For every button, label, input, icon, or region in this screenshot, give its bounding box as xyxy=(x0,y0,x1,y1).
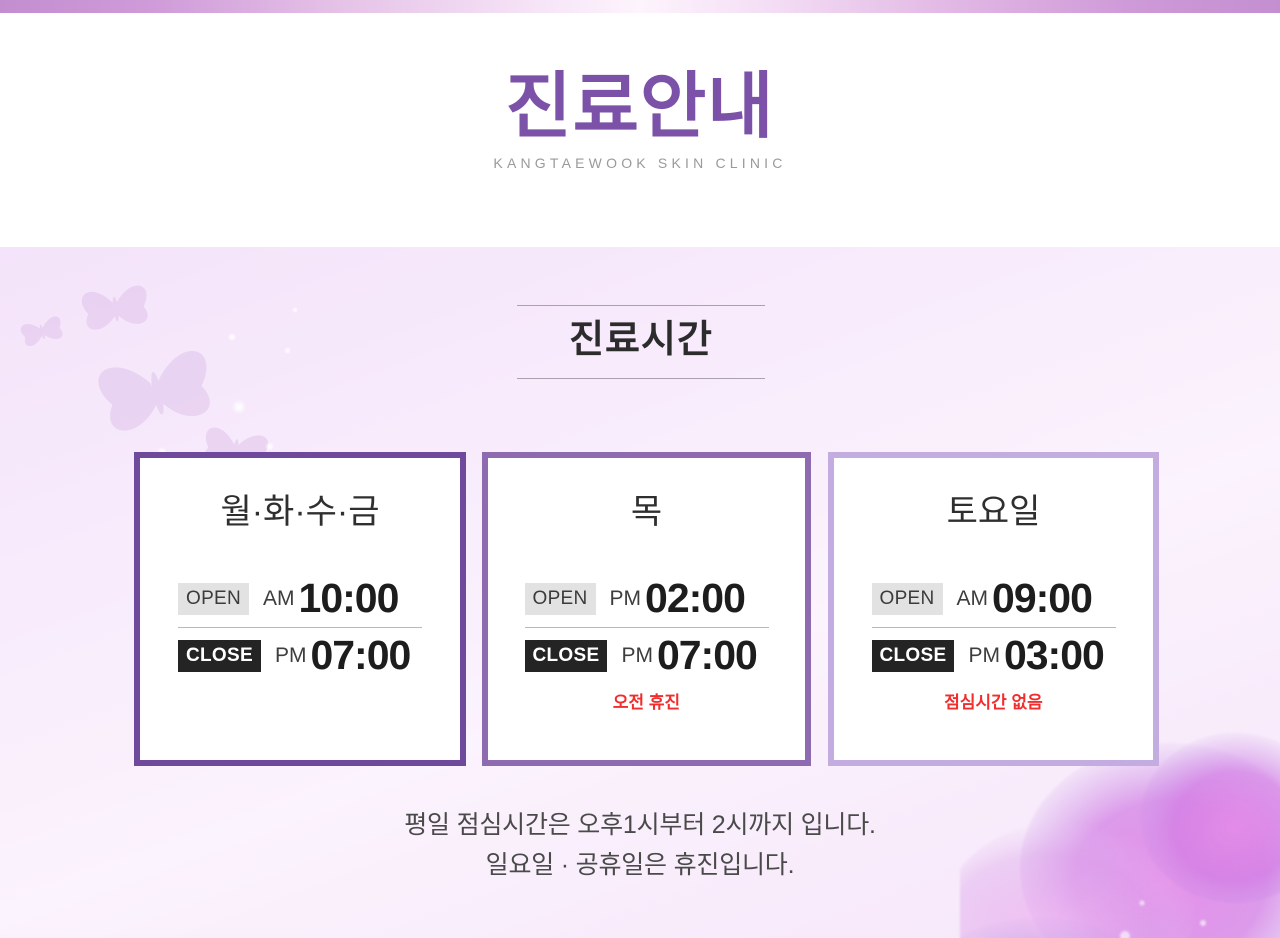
close-meridiem: PM xyxy=(621,644,653,668)
sparkle-icon xyxy=(232,400,246,414)
footer-notes: 평일 점심시간은 오후1시부터 2시까지 입니다. 일요일 · 공휴일은 휴진입… xyxy=(0,806,1280,885)
page-title: 진료안내 xyxy=(0,70,1280,146)
open-time: 02:00 xyxy=(645,578,745,619)
open-badge: OPEN xyxy=(872,583,943,615)
card-time-rows: OPEN AM 09:00 CLOSE PM 03:00 xyxy=(872,571,1116,684)
footer-note-lunch: 평일 점심시간은 오후1시부터 2시까지 입니다. xyxy=(0,806,1280,846)
card-day-label: 목 xyxy=(488,492,805,533)
card-note: 점심시간 없음 xyxy=(834,692,1153,714)
card-time-rows: OPEN AM 10:00 CLOSE PM 07:00 xyxy=(178,571,422,684)
open-row: OPEN AM 09:00 xyxy=(872,571,1116,627)
open-badge: OPEN xyxy=(178,583,249,615)
close-time: 03:00 xyxy=(1004,635,1104,676)
close-meridiem: PM xyxy=(275,644,307,668)
card-day-label: 월·화·수·금 xyxy=(140,492,460,533)
page-header: 진료안내 KANGTAEWOOK SKIN CLINIC xyxy=(0,13,1280,247)
card-note: 오전 휴진 xyxy=(488,692,805,714)
sparkle-icon xyxy=(228,333,236,341)
card-time-rows: OPEN PM 02:00 CLOSE PM 07:00 xyxy=(525,571,769,684)
close-badge: CLOSE xyxy=(872,640,955,672)
hours-card-list: 월·화·수·금 OPEN AM 10:00 CLOSE PM 07:00 목 O… xyxy=(0,452,1280,766)
section-heading: 진료시간 xyxy=(517,306,765,378)
sparkle-icon xyxy=(292,307,298,313)
close-row: CLOSE PM 07:00 xyxy=(525,628,769,684)
close-meridiem: PM xyxy=(968,644,1000,668)
open-meridiem: AM xyxy=(957,587,989,611)
page-subtitle: KANGTAEWOOK SKIN CLINIC xyxy=(0,155,1280,171)
open-row: OPEN PM 02:00 xyxy=(525,571,769,627)
close-time: 07:00 xyxy=(310,635,410,676)
close-badge: CLOSE xyxy=(178,640,261,672)
sparkle-icon xyxy=(284,347,291,354)
sparkle-icon xyxy=(265,442,274,451)
top-gradient-bar xyxy=(0,0,1280,13)
close-row: CLOSE PM 03:00 xyxy=(872,628,1116,684)
open-time: 09:00 xyxy=(992,578,1092,619)
card-day-label: 토요일 xyxy=(834,492,1153,533)
heading-rule-bottom xyxy=(517,378,765,379)
footer-note-closed: 일요일 · 공휴일은 휴진입니다. xyxy=(0,846,1280,886)
open-badge: OPEN xyxy=(525,583,596,615)
hours-card: 토요일 OPEN AM 09:00 CLOSE PM 03:00 점심시간 없음 xyxy=(828,452,1159,766)
hours-card: 월·화·수·금 OPEN AM 10:00 CLOSE PM 07:00 xyxy=(134,452,466,766)
close-badge: CLOSE xyxy=(525,640,608,672)
close-row: CLOSE PM 07:00 xyxy=(178,628,422,684)
hours-card: 목 OPEN PM 02:00 CLOSE PM 07:00 오전 휴진 xyxy=(482,452,811,766)
open-meridiem: PM xyxy=(610,587,642,611)
section-heading-block: 진료시간 xyxy=(517,305,765,379)
open-row: OPEN AM 10:00 xyxy=(178,571,422,627)
close-time: 07:00 xyxy=(657,635,757,676)
open-meridiem: AM xyxy=(263,587,295,611)
open-time: 10:00 xyxy=(299,578,399,619)
